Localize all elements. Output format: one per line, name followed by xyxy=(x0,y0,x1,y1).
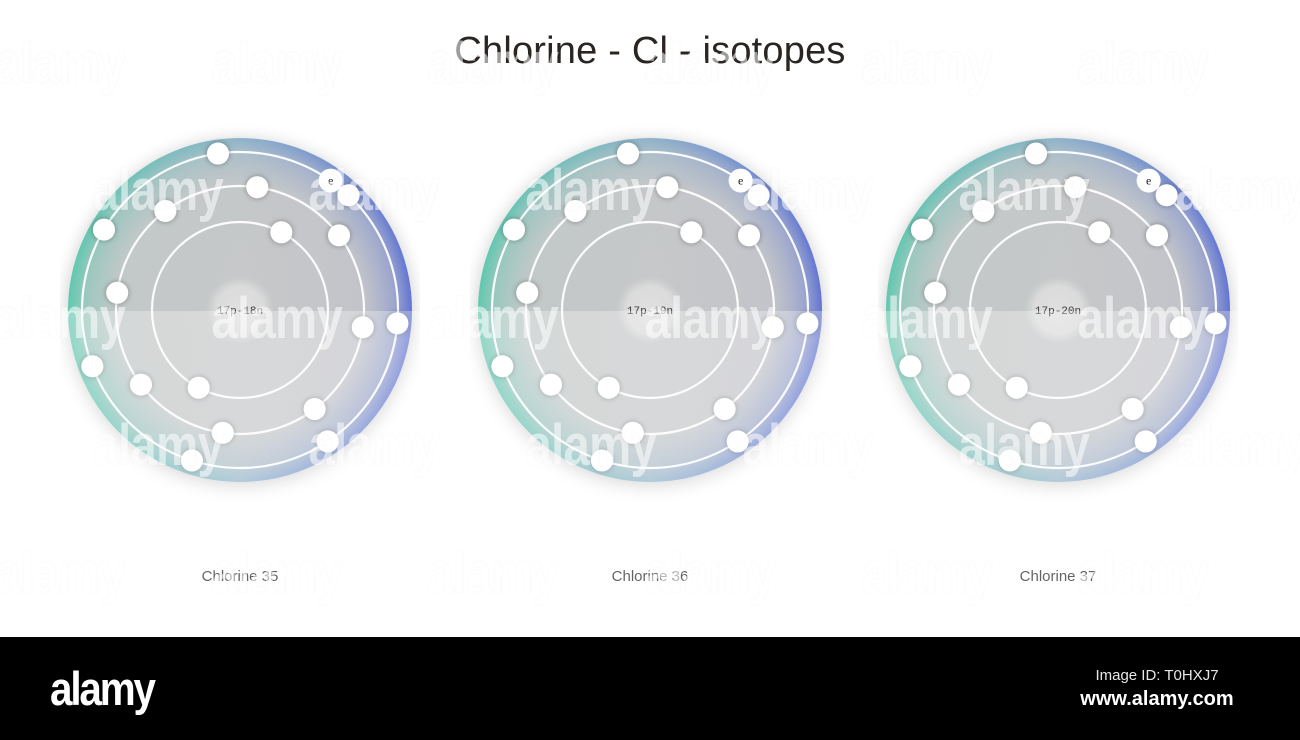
electron xyxy=(207,143,229,165)
electron xyxy=(617,143,639,165)
electron xyxy=(338,184,360,206)
electron xyxy=(130,374,152,396)
electron xyxy=(622,422,644,444)
atom-svg-wrap: 17p-18ne xyxy=(60,120,420,500)
electron xyxy=(598,377,620,399)
electron xyxy=(999,450,1021,472)
electron xyxy=(540,374,562,396)
electron xyxy=(1204,312,1226,334)
atom-diagram-chlorine-35: 17p-18ne Chlorine 35 xyxy=(60,120,420,600)
electron xyxy=(188,377,210,399)
electron xyxy=(270,221,292,243)
atom-diagram-chlorine-37: 17p-20ne Chlorine 37 xyxy=(878,120,1238,600)
electron xyxy=(181,450,203,472)
page-title: Chlorine - Cl - isotopes xyxy=(0,30,1300,73)
electron xyxy=(328,224,350,246)
figure-canvas: Chlorine - Cl - isotopes 17p-18ne Chlori… xyxy=(0,0,1300,637)
alamy-url[interactable]: www.alamy.com xyxy=(1042,688,1272,711)
electron xyxy=(1064,176,1086,198)
electron xyxy=(656,176,678,198)
electron xyxy=(1030,422,1052,444)
alamy-logo: alamy xyxy=(50,661,154,716)
atom-caption: Chlorine 36 xyxy=(470,568,830,585)
atom-caption: Chlorine 35 xyxy=(60,568,420,585)
atom-bohr-model: 17p-18ne xyxy=(60,120,420,500)
electron xyxy=(1156,184,1178,206)
electron xyxy=(748,184,770,206)
electron xyxy=(212,422,234,444)
electron xyxy=(899,355,921,377)
atom-bohr-model: 17p-20ne xyxy=(878,120,1238,500)
electron xyxy=(304,398,326,420)
image-id-label: Image ID: T0HXJ7 xyxy=(1042,667,1272,684)
electron xyxy=(591,450,613,472)
electron xyxy=(924,282,946,304)
electron xyxy=(1135,430,1157,452)
electron xyxy=(246,176,268,198)
electron xyxy=(1122,398,1144,420)
electron xyxy=(1146,224,1168,246)
electron xyxy=(93,219,115,241)
nucleus-label: 17p-19n xyxy=(627,306,673,318)
electron-label: e xyxy=(738,174,743,188)
electron xyxy=(352,316,374,338)
atom-diagram-chlorine-36: 17p-19ne Chlorine 36 xyxy=(470,120,830,600)
atom-svg-wrap: 17p-19ne xyxy=(470,120,830,500)
footer-meta: Image ID: T0HXJ7 www.alamy.com xyxy=(1042,667,1272,711)
electron xyxy=(727,430,749,452)
electron xyxy=(762,316,784,338)
electron xyxy=(738,224,760,246)
footer-bar: alamy Image ID: T0HXJ7 www.alamy.com xyxy=(0,637,1300,740)
atom-bohr-model: 17p-19ne xyxy=(470,120,830,500)
electron xyxy=(972,200,994,222)
electron xyxy=(81,355,103,377)
electron xyxy=(796,312,818,334)
electron xyxy=(1170,316,1192,338)
atom-caption: Chlorine 37 xyxy=(878,568,1238,585)
electron xyxy=(948,374,970,396)
electron xyxy=(564,200,586,222)
electron xyxy=(680,221,702,243)
electron xyxy=(491,355,513,377)
electron xyxy=(317,430,339,452)
electron xyxy=(503,219,525,241)
electron-label: e xyxy=(328,174,333,188)
electron xyxy=(516,282,538,304)
atom-svg-wrap: 17p-20ne xyxy=(878,120,1238,500)
electron xyxy=(714,398,736,420)
electron xyxy=(106,282,128,304)
electron xyxy=(911,219,933,241)
electron xyxy=(1025,143,1047,165)
electron xyxy=(1088,221,1110,243)
electron xyxy=(1006,377,1028,399)
nucleus-label: 17p-18n xyxy=(217,306,263,318)
electron xyxy=(154,200,176,222)
electron xyxy=(386,312,408,334)
nucleus-label: 17p-20n xyxy=(1035,306,1081,318)
electron-label: e xyxy=(1146,174,1151,188)
